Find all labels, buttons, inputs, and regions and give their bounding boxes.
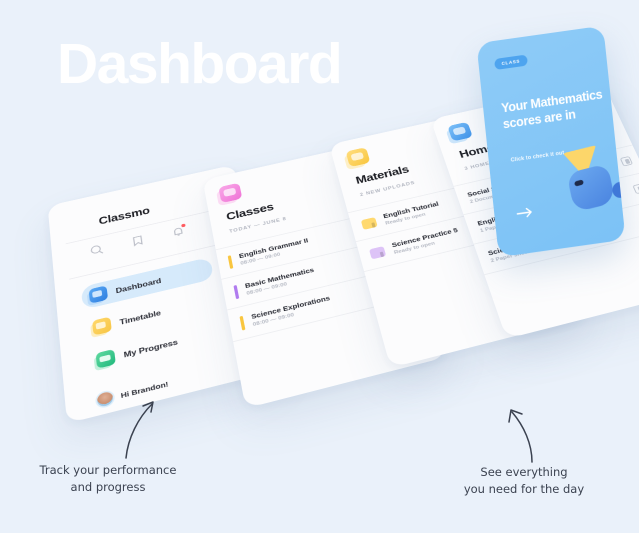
notification-badge-dot (181, 223, 186, 227)
notification-bell-icon[interactable] (170, 224, 186, 238)
bookmark-icon[interactable] (130, 234, 146, 248)
user-greeting: Hi Brandon! (120, 379, 169, 399)
folder-icon (361, 217, 378, 230)
status-badge: CLASS (494, 55, 527, 70)
promo-headline: Your Mathematics scores are in (500, 86, 606, 132)
avatar (97, 391, 114, 408)
dashboard-icon (89, 285, 109, 303)
progress-icon (96, 349, 116, 369)
mascot-illustration (560, 141, 626, 221)
sidebar-item-label: Dashboard (115, 276, 162, 295)
timetable-icon (92, 317, 112, 336)
search-icon[interactable] (89, 243, 105, 257)
annotation-arrow-right (502, 406, 546, 464)
class-accent-bar (233, 285, 238, 299)
sidebar-item-label: My Progress (123, 337, 178, 359)
caption-left: Track your performance and progress (28, 462, 188, 495)
caption-right: See everything you need for the day (448, 464, 600, 497)
promo-cta-text: Click to check it out (511, 150, 565, 163)
class-accent-bar (239, 315, 244, 330)
phone-promo-card[interactable]: CLASS Your Mathematics scores are in Cli… (476, 26, 625, 258)
document-icon[interactable] (632, 183, 639, 194)
annotation-arrow-left (118, 398, 162, 460)
folder-icon (369, 246, 386, 259)
class-accent-bar (228, 255, 233, 269)
arrow-right-icon[interactable] (516, 205, 534, 220)
document-icon[interactable] (620, 156, 633, 166)
sidebar-item-label: Timetable (119, 308, 161, 326)
